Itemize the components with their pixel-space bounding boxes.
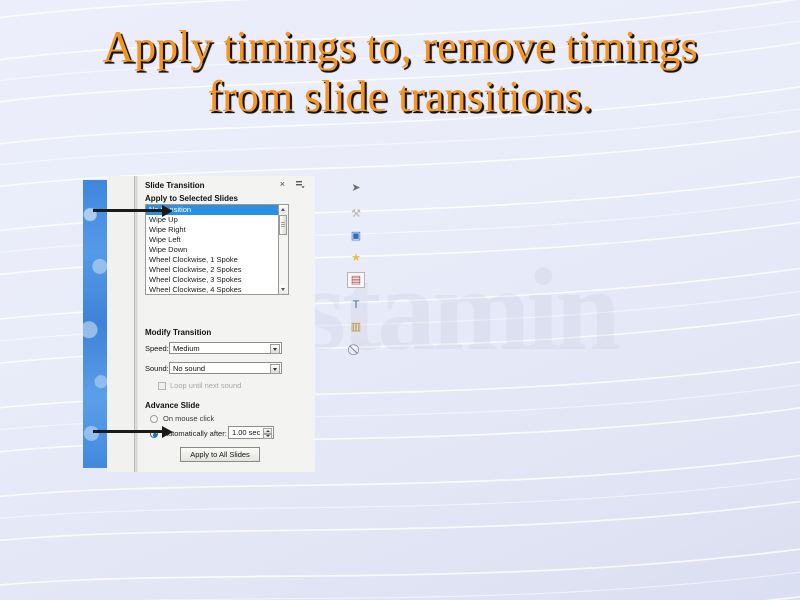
list-item[interactable]: Wipe Down <box>146 245 278 255</box>
scrollbar-thumb[interactable] <box>279 215 287 235</box>
arrow-shaft <box>93 209 162 212</box>
slide-thumbnail-strip <box>83 180 107 468</box>
list-item[interactable]: Wipe Left <box>146 235 278 245</box>
speed-label: Speed: <box>145 344 169 353</box>
on-mouse-click-row[interactable]: On mouse click <box>150 414 214 423</box>
no-entry-icon[interactable]: ⃠ <box>347 342 365 358</box>
chevron-down-icon[interactable] <box>270 344 280 354</box>
wrench-icon[interactable]: ⚒ <box>347 206 365 222</box>
arrow-head <box>162 426 173 438</box>
task-pane-title: Slide Transition <box>145 181 205 190</box>
speed-row: Speed: Medium <box>145 342 282 354</box>
pointer-icon[interactable]: ➤ <box>347 180 365 196</box>
arrow-to-automatically-after <box>93 426 173 438</box>
speed-select[interactable]: Medium <box>169 342 282 354</box>
loop-checkbox[interactable] <box>158 382 166 390</box>
sound-label: Sound: <box>145 364 169 373</box>
page-title: Apply timings to, remove timings from sl… <box>0 22 800 122</box>
on-mouse-click-radio[interactable] <box>150 415 158 423</box>
transition-list: No transitionWipe UpWipe RightWipe LeftW… <box>146 205 278 295</box>
apply-to-selected-slides-label: Apply to Selected Slides <box>145 194 238 203</box>
sound-select[interactable]: No sound <box>169 362 282 374</box>
pane-options-icon[interactable] <box>296 180 305 189</box>
star-icon[interactable]: ★ <box>347 250 365 266</box>
loop-label: Loop until next sound <box>170 381 241 390</box>
auto-advance-time-value: 1.00 sec <box>229 428 260 437</box>
scroll-up-arrow-icon[interactable] <box>279 205 287 214</box>
drawing-toolbar-rail: ➤⚒▣★▤T▥⃠ <box>344 176 370 472</box>
task-pane-header: Slide Transition <box>138 178 289 192</box>
speed-value: Medium <box>170 344 200 353</box>
list-item[interactable]: Wheel Clockwise, 2 Spokes <box>146 265 278 275</box>
arrow-head <box>162 205 173 217</box>
list-item[interactable]: Wheel Clockwise, 3 Spokes <box>146 275 278 285</box>
arrow-shaft <box>93 430 162 433</box>
sound-row: Sound: No sound <box>145 362 282 374</box>
auto-advance-time-stepper[interactable]: 1.00 sec <box>228 426 274 439</box>
list-item[interactable]: Wheel Clockwise, 4 Spokes <box>146 285 278 295</box>
stepper-buttons[interactable] <box>263 428 272 439</box>
modify-transition-label: Modify Transition <box>145 328 211 337</box>
list-item[interactable]: Wipe Right <box>146 225 278 235</box>
chevron-down-icon[interactable] <box>270 364 280 374</box>
list-item[interactable]: Wheel Clockwise, 1 Spoke <box>146 255 278 265</box>
loop-until-next-sound-row[interactable]: Loop until next sound <box>158 381 241 390</box>
apply-to-all-slides-button[interactable]: Apply to All Slides <box>180 447 260 462</box>
slide-layout-icon[interactable]: ▤ <box>347 272 365 288</box>
transition-list-scrollbar[interactable] <box>279 204 289 295</box>
sound-value: No sound <box>170 364 205 373</box>
stepper-down-icon[interactable] <box>263 434 272 440</box>
on-mouse-click-label: On mouse click <box>163 414 214 423</box>
close-icon[interactable]: × <box>280 180 285 189</box>
scroll-down-arrow-icon[interactable] <box>279 285 287 294</box>
toolbox-icon[interactable]: ▥ <box>347 319 365 335</box>
transition-listbox[interactable]: No transitionWipe UpWipe RightWipe LeftW… <box>145 204 279 295</box>
presentation-icon[interactable]: ▣ <box>347 228 365 244</box>
text-art-icon[interactable]: T <box>347 297 365 313</box>
advance-slide-label: Advance Slide <box>145 401 200 410</box>
arrow-to-selected-transition <box>93 205 173 217</box>
